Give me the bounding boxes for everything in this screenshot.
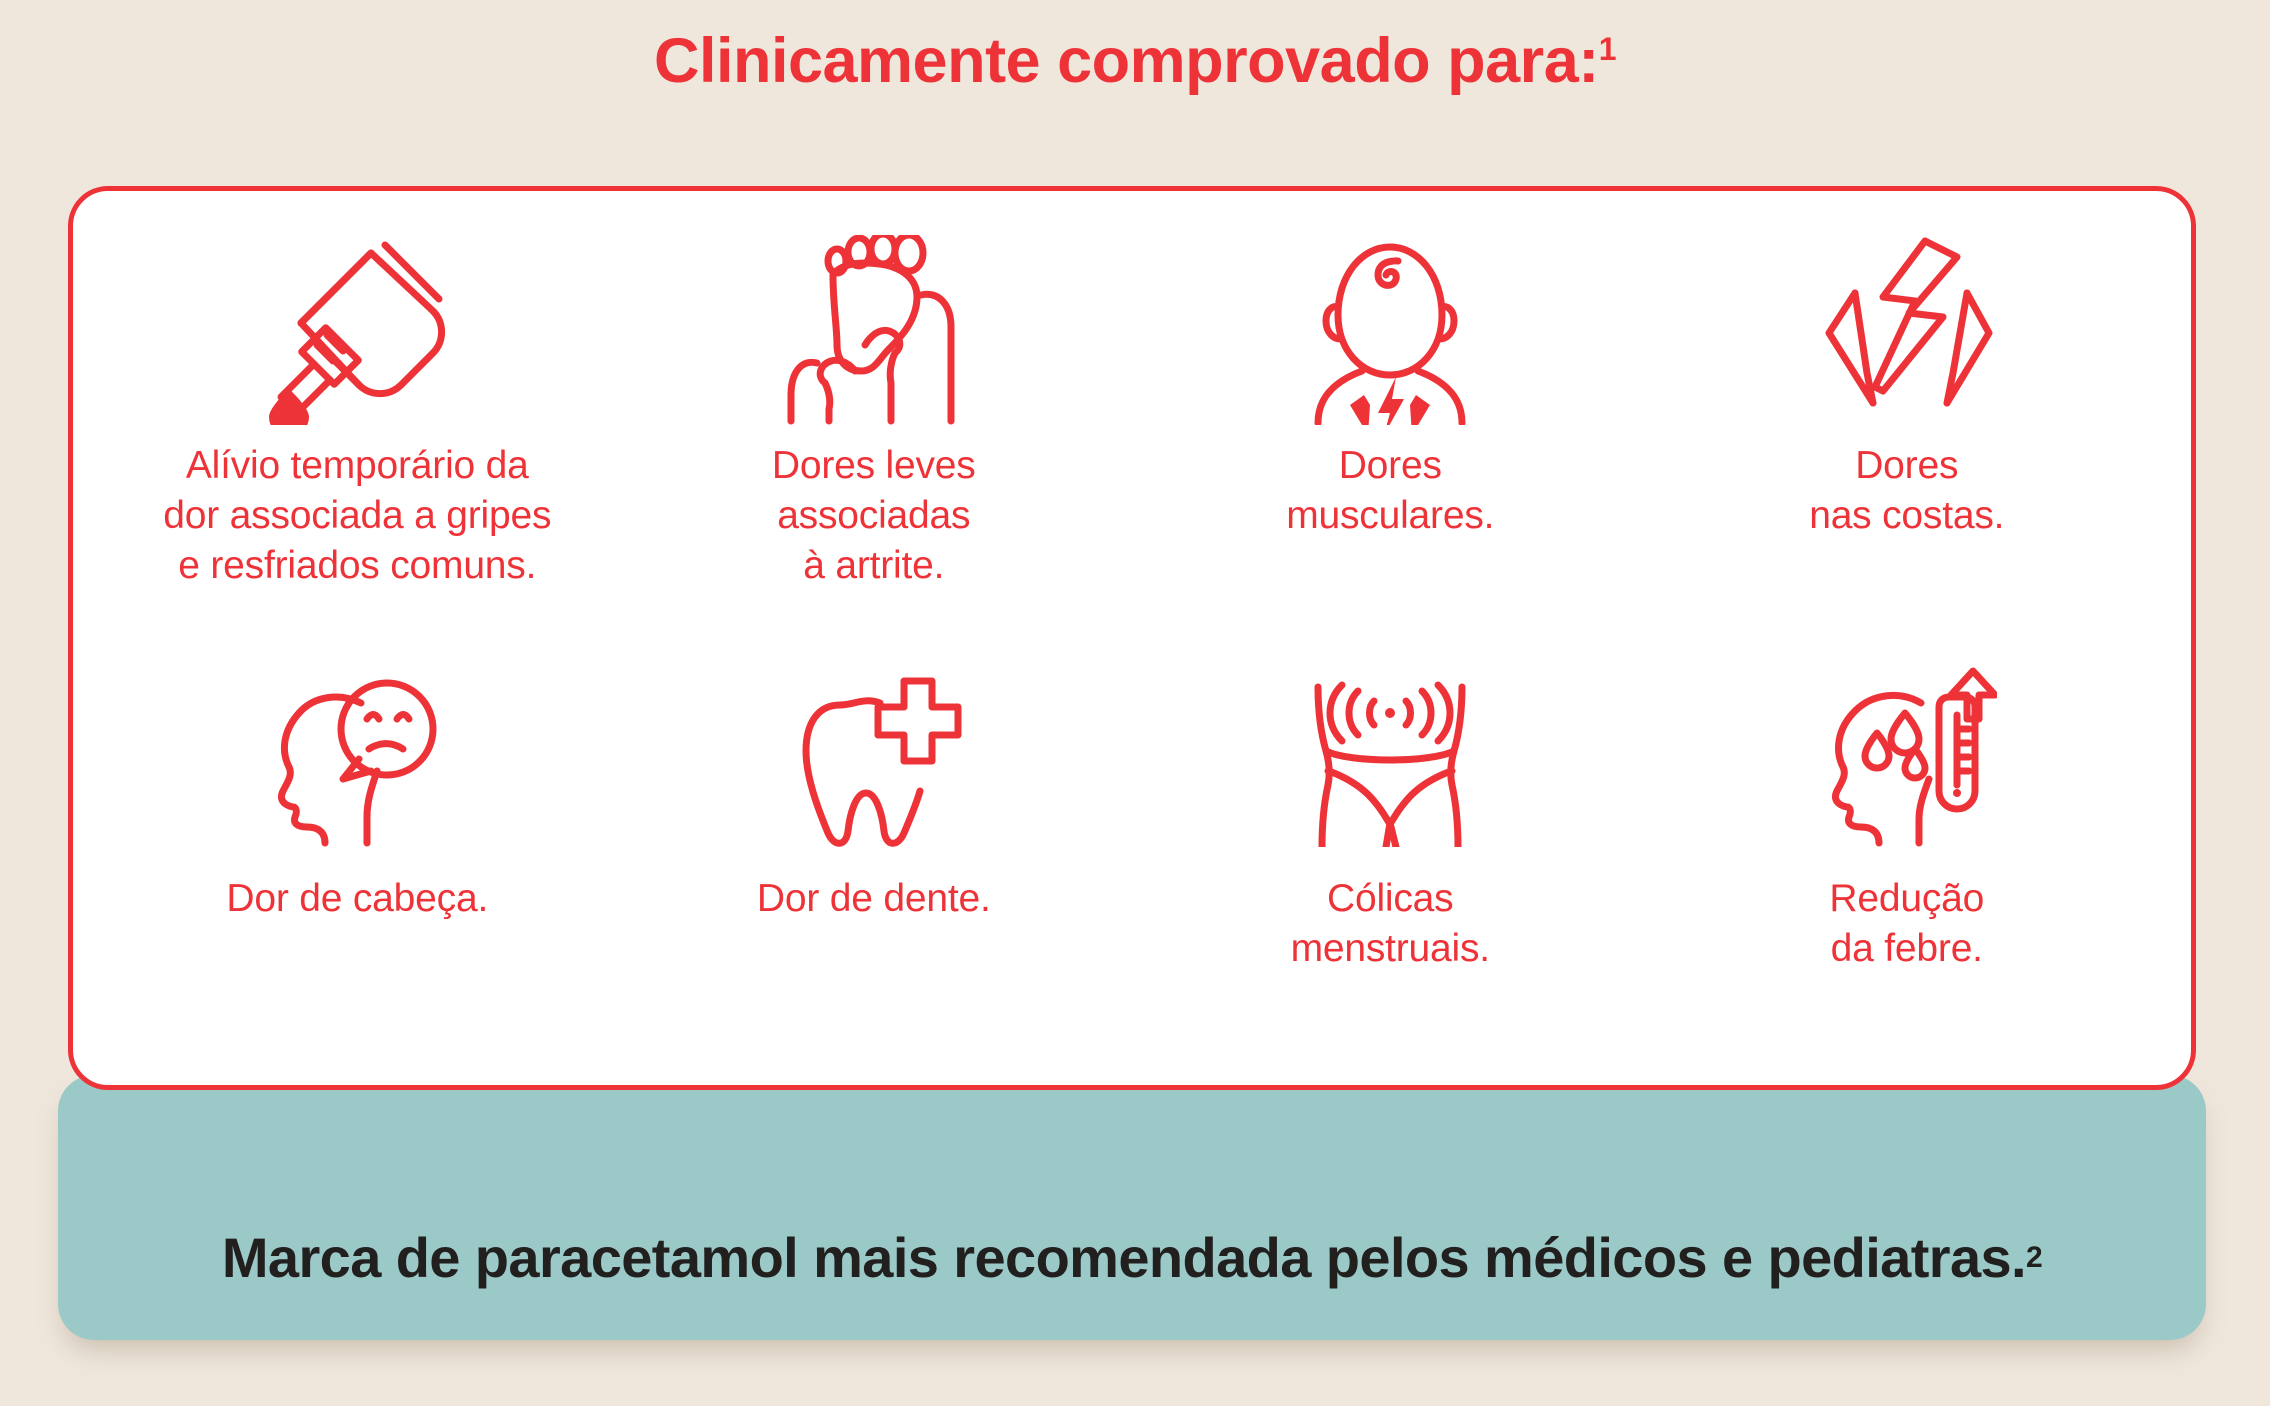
benefit-label: Dores leves associadas à artrite. <box>772 441 976 591</box>
benefits-card: Alívio temporário da dor associada a gri… <box>68 186 2196 1090</box>
recommendation-banner-text: Marca de paracetamol mais recomendada pe… <box>58 1075 2206 1340</box>
head-sad-face-icon <box>267 662 447 852</box>
foot-massage-icon <box>779 235 969 425</box>
page-title: Clinicamente comprovado para:1 <box>0 30 2270 93</box>
benefit-label: Dor de dente. <box>757 874 991 924</box>
tooth-cross-icon <box>784 662 964 852</box>
benefit-item: Dores nas costas. <box>1649 213 2166 636</box>
benefit-item: Dores musculares. <box>1132 213 1649 636</box>
benefit-label: Dores nas costas. <box>1809 441 2004 541</box>
benefit-item: Alívio temporário da dor associada a gri… <box>99 213 616 636</box>
benefit-label: Dores musculares. <box>1286 441 1494 541</box>
benefit-item: Dor de cabeça. <box>99 636 616 1059</box>
abdomen-waves-icon <box>1300 662 1480 852</box>
benefit-label: Redução da febre. <box>1829 874 1984 974</box>
benefit-label: Cólicas menstruais. <box>1291 874 1490 974</box>
dropper-bottle-icon <box>267 235 447 425</box>
page-title-text: Clinicamente comprovado para: <box>654 26 1599 96</box>
benefit-label: Dor de cabeça. <box>226 874 488 924</box>
page-title-superscript: 1 <box>1599 31 1616 67</box>
benefit-item: Dor de dente. <box>616 636 1133 1059</box>
benefits-grid: Alívio temporário da dor associada a gri… <box>73 191 2191 1085</box>
head-thermometer-icon <box>1817 662 1997 852</box>
benefit-item: Dores leves associadas à artrite. <box>616 213 1133 636</box>
infographic-root: Clinicamente comprovado para:1 Marca de … <box>0 0 2270 1406</box>
benefit-label: Alívio temporário da dor associada a gri… <box>163 441 551 591</box>
lightning-bolt-icon <box>1817 235 1997 425</box>
person-muscle-pain-icon <box>1300 235 1480 425</box>
benefit-item: Cólicas menstruais. <box>1132 636 1649 1059</box>
benefit-item: Redução da febre. <box>1649 636 2166 1059</box>
recommendation-banner: Marca de paracetamol mais recomendada pe… <box>58 1075 2206 1340</box>
banner-label: Marca de paracetamol mais recomendada pe… <box>222 1225 2026 1290</box>
